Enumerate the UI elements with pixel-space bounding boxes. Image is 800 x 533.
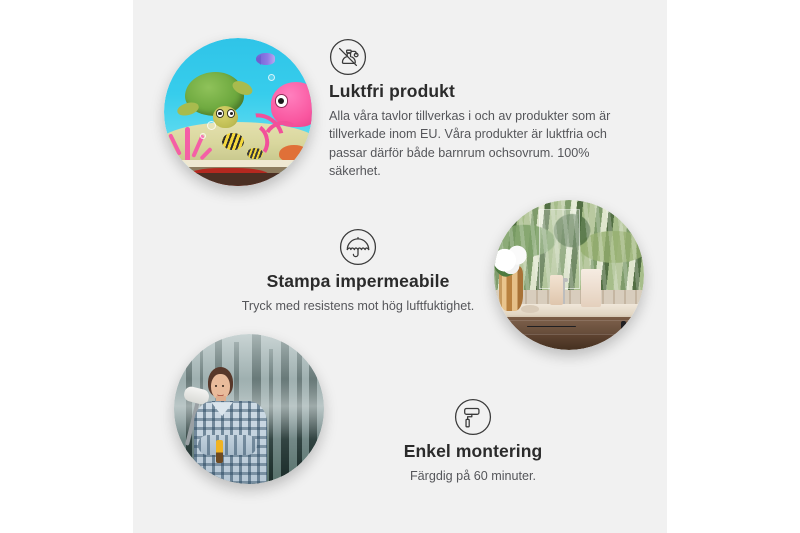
feature-title: Luktfri produkt [329,81,629,103]
eye [222,385,225,387]
bottle [581,269,601,307]
turtle-eye-graphic [227,109,236,118]
drawer-handle [527,326,577,327]
feature-easy-mounting: Enkel montering Färgdig på 60 minuter. [308,398,638,485]
woman-figure [186,367,270,484]
feature-odourless: Luktfri produkt Alla våra tavlor tillver… [329,38,629,181]
feature-description: Tryck med resistens mot hög luftfuktighe… [193,297,523,316]
forest-scene [174,334,324,484]
paint-brush [216,440,223,463]
turtle-fin-graphic [176,100,201,117]
crossed-arms [198,435,257,455]
ocean-mural-inner [164,38,312,186]
soap-dish [521,305,539,313]
bathroom-interior-image [494,200,644,350]
wall-strip [164,173,312,186]
bathroom-interior-inner [494,200,644,350]
cabinet-handle [621,321,626,340]
paint-roller-icon [308,398,638,441]
feature-title: Stampa impermeabile [193,271,523,293]
ocean-mural-image [164,38,312,186]
screenshot-root: Luktfri produkt Alla våra tavlor tillver… [0,0,800,533]
vanity-cabinet [503,317,644,350]
forest-painter-image [174,334,324,484]
feature-title: Enkel montering [308,441,638,463]
flowers [494,242,532,275]
turtle-eye-graphic [216,109,225,118]
coral-graphic [167,124,211,162]
blue-fish-graphic [256,53,275,65]
forest-painter-inner [174,334,324,484]
eye [215,385,218,387]
ocean-scene [164,38,312,186]
feature-description: Färgdig på 60 minuter. [308,467,638,486]
features-panel: Luktfri produkt Alla våra tavlor tillver… [133,0,667,533]
bottle [550,275,564,305]
umbrella-icon [193,228,523,271]
feature-description: Alla våra tavlor tillverkas i och av pro… [329,107,629,181]
bathroom-scene [494,200,644,350]
no-spray-bottle-icon [329,38,629,81]
feature-waterproof: Stampa impermeabile Tryck med resistens … [193,228,523,315]
bubble-icon [268,74,275,81]
